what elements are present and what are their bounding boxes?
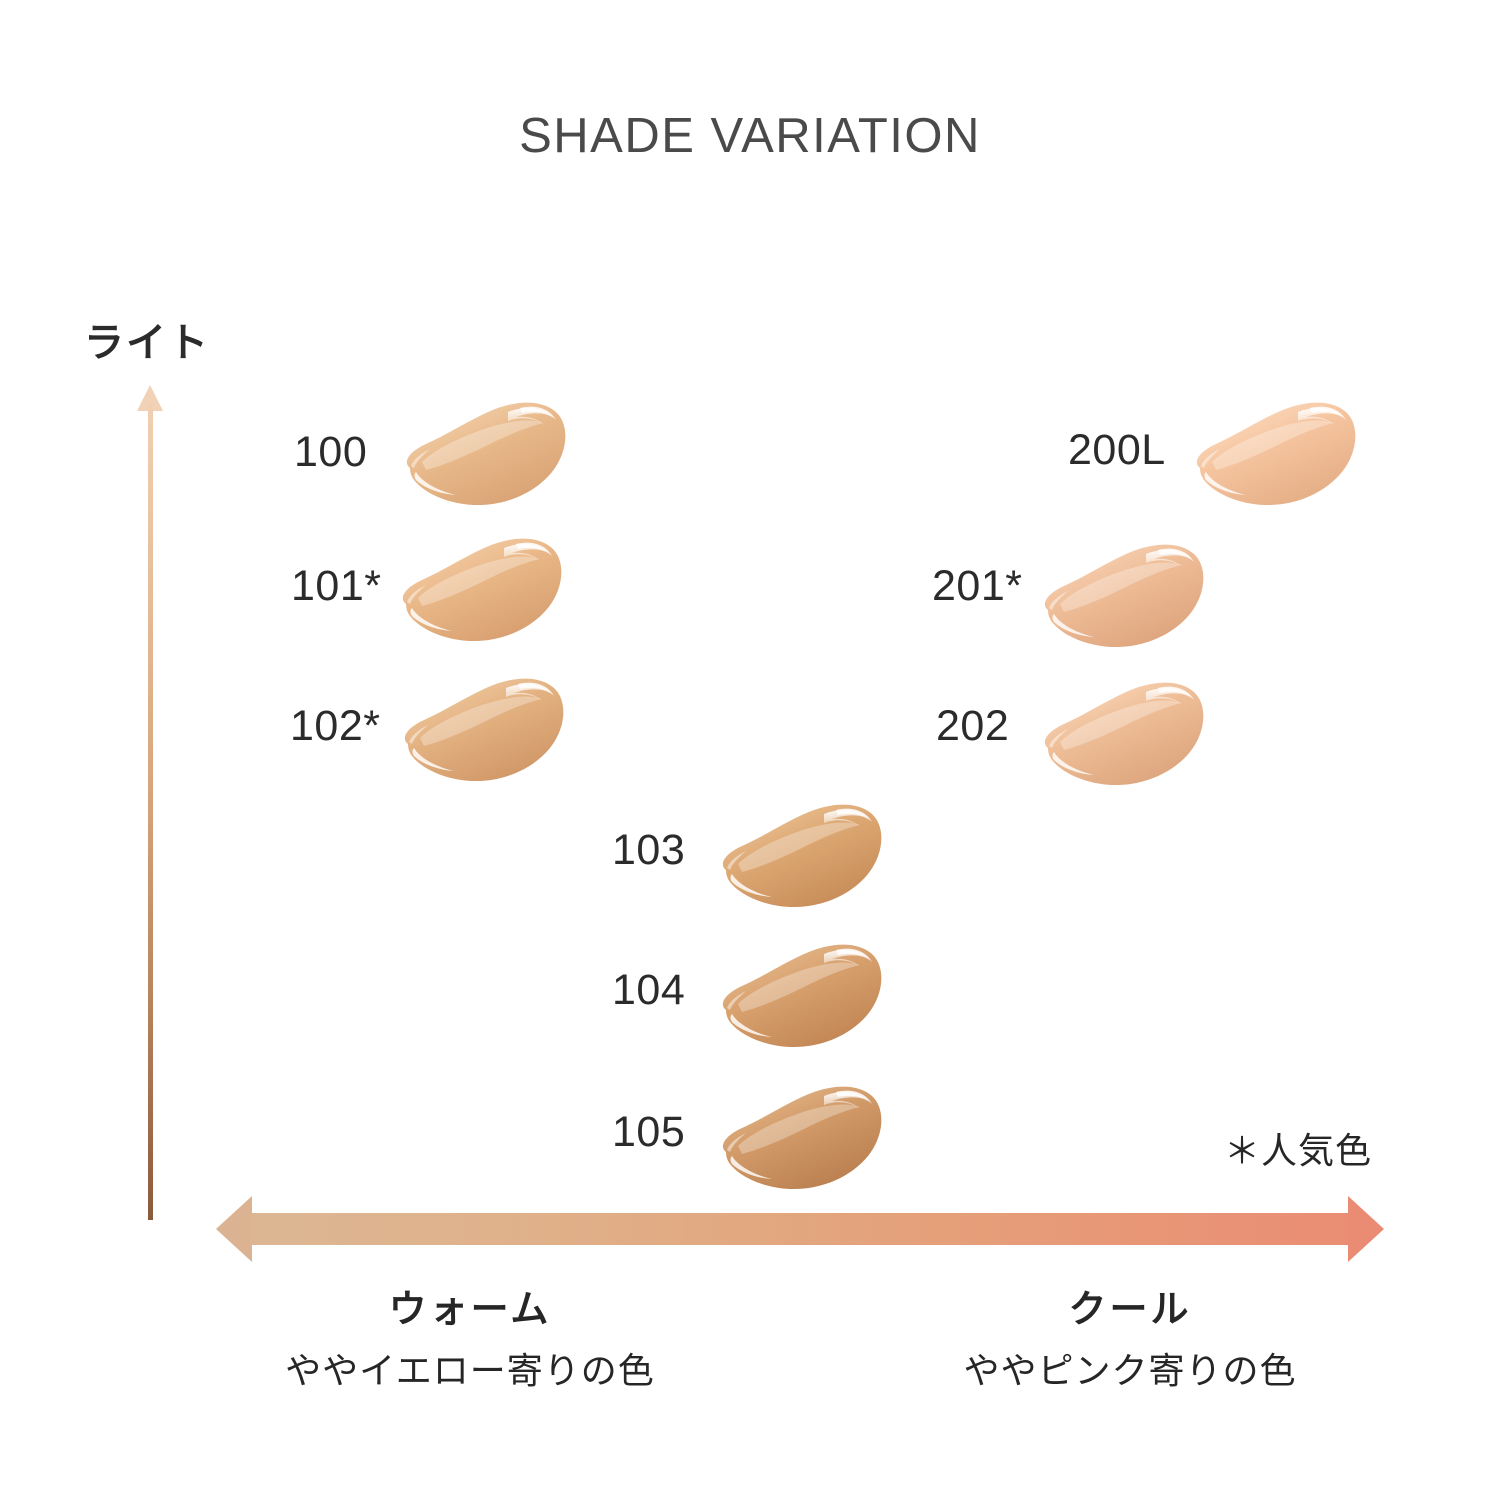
- swatch-blob-100: [400, 396, 570, 514]
- swatch-label-100: 100: [294, 428, 367, 477]
- arrow-left-right-icon: [216, 1196, 1384, 1262]
- arrow-up-icon: [137, 385, 163, 1220]
- swatch-label-200L: 200L: [1068, 426, 1166, 475]
- caption-warm-description: ややイエロー寄りの色: [160, 1348, 780, 1397]
- swatch-blob-201-popular: [1038, 538, 1208, 656]
- shade-variation-chart: SHADE VARIATION ライト 100101*102*103104105…: [0, 0, 1500, 1500]
- caption-cool-title: クール: [820, 1286, 1440, 1334]
- legend-popular-note: ＊人気色: [1224, 1122, 1372, 1174]
- swatch-label-103: 103: [612, 826, 685, 875]
- arrow-up-shaft: [148, 403, 153, 1220]
- swatch-label-201-popular: 201*: [932, 562, 1022, 611]
- swatch-blob-102-popular: [398, 672, 568, 790]
- caption-cool: クール ややピンク寄りの色: [820, 1286, 1440, 1396]
- swatch-label-202: 202: [936, 702, 1009, 751]
- swatch-blob-105: [716, 1080, 886, 1198]
- caption-cool-description: ややピンク寄りの色: [820, 1348, 1440, 1397]
- swatch-label-104: 104: [612, 966, 685, 1015]
- swatch-blob-103: [716, 798, 886, 916]
- arrow-horizontal-bar: [250, 1213, 1350, 1245]
- vertical-axis-label: ライト: [84, 310, 210, 368]
- swatch-label-105: 105: [612, 1108, 685, 1157]
- swatch-blob-200L: [1190, 396, 1360, 514]
- page-title: SHADE VARIATION: [0, 108, 1500, 164]
- swatch-label-101-popular: 101*: [291, 562, 381, 611]
- caption-warm-title: ウォーム: [160, 1286, 780, 1334]
- caption-warm: ウォーム ややイエロー寄りの色: [160, 1286, 780, 1396]
- swatch-blob-101-popular: [396, 532, 566, 650]
- arrow-left-head: [216, 1196, 252, 1262]
- swatch-blob-104: [716, 938, 886, 1056]
- arrow-right-head: [1348, 1196, 1384, 1262]
- swatch-blob-202: [1038, 676, 1208, 794]
- swatch-label-102-popular: 102*: [290, 702, 380, 751]
